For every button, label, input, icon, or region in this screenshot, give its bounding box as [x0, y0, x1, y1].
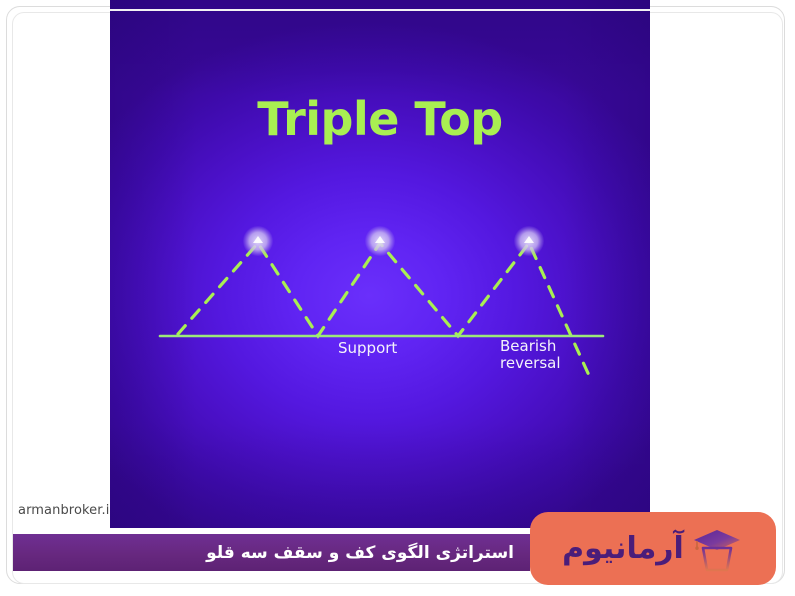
- support-label: Support: [338, 340, 397, 357]
- brand-logo-text: آرمانیوم: [562, 531, 684, 566]
- chart-title: Triple Top: [110, 92, 650, 146]
- bearish-reversal-label: Bearish reversal: [500, 338, 561, 372]
- peak-marker-1: [243, 226, 273, 256]
- graduation-cap-icon: [690, 522, 744, 576]
- caption-banner: استراتژی الگوی کف و سقف سه قلو: [13, 534, 530, 571]
- top-hairline-divider: [110, 9, 650, 11]
- bearish-reversal-label-line1: Bearish: [500, 338, 561, 355]
- chart-illustration: Triple Top: [110, 0, 650, 528]
- caption-text: استراتژی الگوی کف و سقف سه قلو: [206, 543, 514, 563]
- peak-marker-2: [365, 226, 395, 256]
- bearish-reversal-label-line2: reversal: [500, 355, 561, 372]
- chart-plot-svg: [110, 0, 650, 528]
- brand-logo-badge[interactable]: آرمانیوم: [530, 512, 776, 585]
- peak-marker-3: [514, 226, 544, 256]
- site-watermark: armanbroker.ir: [18, 503, 115, 518]
- page-root: armanbroker.ir Triple Top: [0, 0, 795, 596]
